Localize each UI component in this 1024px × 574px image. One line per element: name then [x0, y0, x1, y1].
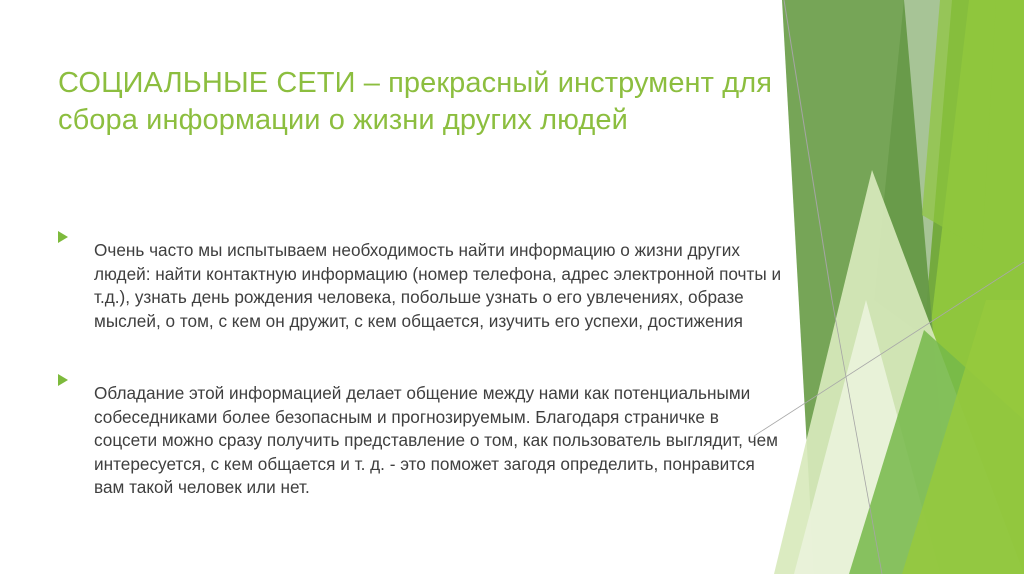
triangle-bullet-icon	[58, 374, 68, 386]
decor-shape-very-pale-sliver	[794, 300, 940, 574]
slide-title: СОЦИАЛЬНЫЕ СЕТИ – прекрасный инструмент …	[58, 65, 788, 139]
decorative-green-polygons	[754, 0, 1024, 574]
decor-thin-line-upper	[784, 0, 832, 300]
decor-thin-line-shallow	[754, 262, 1024, 436]
list-item: Обладание этой информацией делает общени…	[58, 365, 784, 517]
decor-shape-dark-wedge	[874, 0, 969, 340]
decor-svg	[754, 0, 1024, 574]
triangle-bullet-icon	[58, 231, 68, 243]
decor-shape-bright-lower	[902, 300, 1024, 574]
decor-shape-pale-triangle	[774, 170, 1024, 574]
bullet-text: Обладание этой информацией делает общени…	[94, 382, 784, 500]
bullet-marker	[58, 222, 94, 243]
decor-shape-bright-right	[904, 0, 1024, 574]
decor-shape-dark-band	[782, 0, 954, 574]
slide-body: Очень часто мы испытываем необходимость …	[58, 222, 784, 531]
bullet-marker	[58, 365, 94, 386]
decor-thin-line-mid	[832, 300, 882, 574]
presentation-slide: СОЦИАЛЬНЫЕ СЕТИ – прекрасный инструмент …	[0, 0, 1024, 574]
decor-shape-bright-upper	[922, 0, 996, 250]
decor-shape-light-wedge	[849, 330, 1024, 574]
list-item: Очень часто мы испытываем необходимость …	[58, 222, 784, 351]
bullet-text: Очень часто мы испытываем необходимость …	[94, 239, 784, 333]
